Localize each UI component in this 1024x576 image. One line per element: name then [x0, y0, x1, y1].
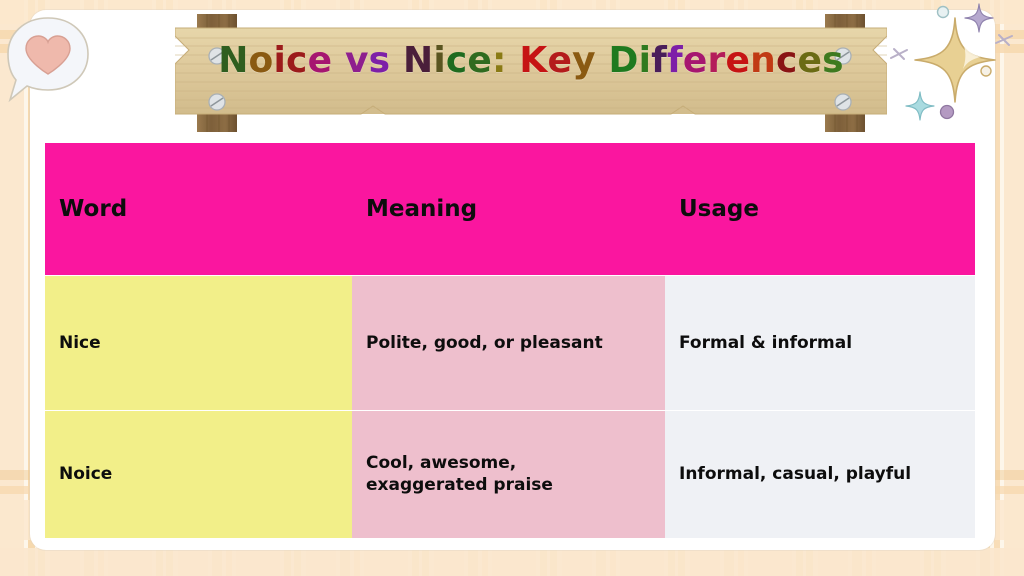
cell-meaning-noice: Cool, awesome, exaggerated praise [366, 452, 553, 497]
title-letter: e [548, 40, 573, 81]
table-row: Nice [45, 276, 352, 409]
title-letter: i [273, 40, 286, 81]
title-letter: c [446, 40, 468, 81]
title-letter: c [776, 40, 798, 81]
title-letter: N [403, 40, 433, 81]
title-letter: i [433, 40, 446, 81]
title-letter: s [369, 40, 391, 81]
table-row: Informal, casual, playful [665, 411, 975, 538]
title-letter: s [822, 40, 844, 81]
slide-title: Noice vs Nice: Key Differences [175, 14, 887, 132]
title-letter [507, 40, 520, 81]
title-letter: N [218, 40, 248, 81]
table-row: Cool, awesome, exaggerated praise [352, 411, 665, 538]
speech-bubble-heart-icon [2, 12, 94, 112]
title-letter: r [708, 40, 726, 81]
comparison-table: Word Nice Noice Meaning Polite, good, or… [45, 143, 975, 538]
cell-meaning-nice: Polite, good, or pleasant [366, 332, 603, 354]
title-letter [332, 40, 345, 81]
title-letter: K [519, 40, 547, 81]
title-letter [596, 40, 609, 81]
title-letter: y [572, 40, 596, 81]
title-letter: f [667, 40, 683, 81]
title-letter: : [492, 40, 507, 81]
title-letter: e [683, 40, 708, 81]
title-letter: e [308, 40, 333, 81]
table-column-usage: Usage Formal & informal Informal, casual… [665, 143, 975, 538]
title-letter [390, 40, 403, 81]
plaid-horizontal-stripe [0, 548, 1024, 576]
table-header-word: Word [45, 143, 352, 275]
title-letter: f [651, 40, 667, 81]
title-letter: i [639, 40, 652, 81]
table-row: Formal & informal [665, 276, 975, 409]
table-header-meaning: Meaning [352, 143, 665, 275]
cell-word-noice: Noice [59, 463, 112, 485]
title-letter: D [609, 40, 639, 81]
table-column-word: Word Nice Noice [45, 143, 352, 538]
table-row: Polite, good, or pleasant [352, 276, 665, 409]
title-letter: c [286, 40, 308, 81]
title-letter: o [249, 40, 274, 81]
title-letter: e [467, 40, 492, 81]
cell-word-nice: Nice [59, 332, 101, 354]
title-letter: e [798, 40, 823, 81]
cell-usage-noice: Informal, casual, playful [679, 463, 911, 485]
title-letter: e [726, 40, 751, 81]
table-column-meaning: Meaning Polite, good, or pleasant Cool, … [352, 143, 665, 538]
table-row: Noice [45, 411, 352, 538]
cell-usage-nice: Formal & informal [679, 332, 852, 354]
sparkles-decoration [878, 0, 1024, 140]
title-letter: n [750, 40, 776, 81]
title-letter: v [345, 40, 369, 81]
table-header-usage: Usage [665, 143, 975, 275]
wooden-signpost: Noice vs Nice: Key Differences [175, 14, 887, 132]
